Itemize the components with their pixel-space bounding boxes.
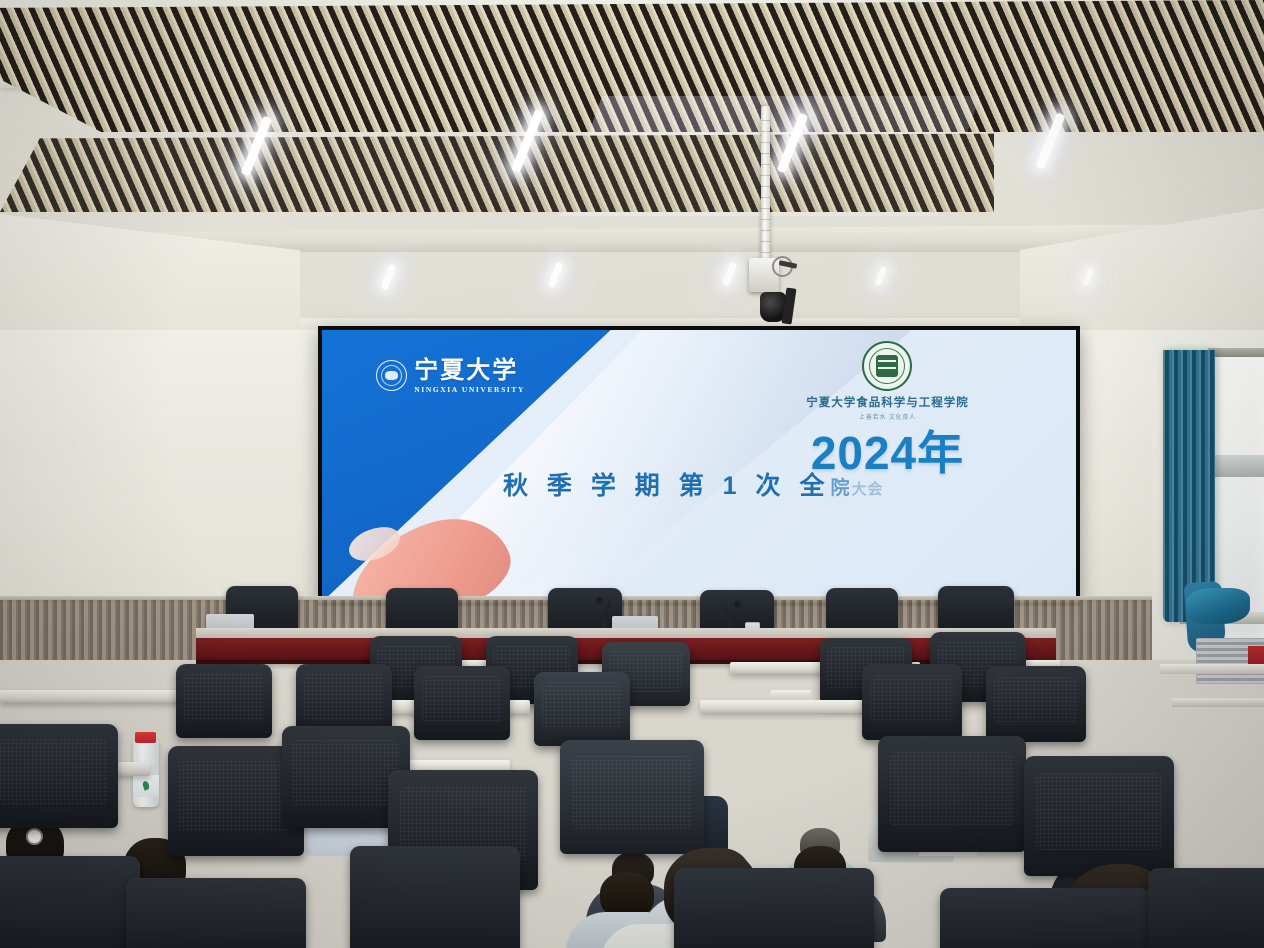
hair-clip-icon: [28, 830, 41, 843]
microphone-head-2[interactable]: [734, 601, 741, 608]
slide-subtitle: 秋 季 学 期 第 1 次 全院大会: [503, 466, 1076, 502]
audience-chair-r2-6[interactable]: [986, 666, 1086, 742]
audience-chair-nearest-2[interactable]: [126, 878, 306, 948]
university-name-cn: 宁夏大学: [414, 359, 525, 383]
audience-chair-nearest-1[interactable]: [0, 856, 140, 948]
audience-chair-r2-4[interactable]: [534, 672, 630, 746]
university-name-en: NINGXIA UNIVERSITY: [414, 386, 525, 394]
university-wordmark: 宁夏大学 NINGXIA UNIVERSITY: [414, 359, 525, 394]
audience-chair-r2-3[interactable]: [414, 666, 510, 740]
university-logo: 宁夏大学 NINGXIA UNIVERSITY: [376, 359, 525, 394]
slide-subtitle-fade-2: 大会: [852, 481, 884, 498]
conference-hall-photo: 宁夏大学 NINGXIA UNIVERSITY 宁夏大学食品科学与工程学院 上善…: [0, 0, 1264, 948]
water-bottle-cap[interactable]: [135, 732, 156, 743]
slide-subtitle-fade-1: 院: [830, 478, 851, 499]
microphone-head-1[interactable]: [596, 597, 603, 604]
window-frame-top: [1208, 348, 1264, 357]
slide-subtitle-main: 秋 季 学 期 第 1 次 全: [503, 472, 831, 500]
ceiling-slat-panel-upper: [0, 0, 1264, 132]
pole-perforations: [761, 120, 770, 270]
university-seal-icon: [376, 360, 407, 391]
college-seal-core: [876, 355, 898, 377]
audience-chair-nearest-6[interactable]: [1148, 868, 1264, 948]
ceiling-slat-panel-lower: [0, 132, 994, 212]
desk-row2-a: [0, 690, 200, 703]
notebook-on-desk: [769, 690, 812, 699]
led-presentation-screen[interactable]: 宁夏大学 NINGXIA UNIVERSITY 宁夏大学食品科学与工程学院 上善…: [318, 326, 1080, 606]
seal-inner-mark: [385, 371, 398, 380]
side-desk-2: [1172, 698, 1264, 707]
college-seal-icon: [862, 341, 912, 391]
side-desk-1: [1160, 664, 1264, 674]
college-name: 宁夏大学食品科学与工程学院: [806, 394, 969, 410]
audience-chair-nearest-5[interactable]: [940, 888, 1150, 948]
audience-chair-front-5[interactable]: [560, 740, 704, 854]
audience-chair-front-6[interactable]: [878, 736, 1026, 852]
slide-content: 宁夏大学 NINGXIA UNIVERSITY 宁夏大学食品科学与工程学院 上善…: [322, 330, 1076, 602]
audience-chair-front-7[interactable]: [1024, 756, 1174, 876]
audience-chair-nearest-4[interactable]: [674, 868, 874, 948]
curtain-pooled-fabric: [1186, 588, 1250, 624]
audience-chair-front-1[interactable]: [0, 724, 118, 828]
audience-chair-nearest-3[interactable]: [350, 846, 520, 948]
college-identity-block: 宁夏大学食品科学与工程学院 上善若水 文化育人: [714, 341, 1061, 421]
audience-chair-r2-5[interactable]: [862, 664, 962, 740]
audience-chair-r2-1[interactable]: [176, 664, 272, 738]
